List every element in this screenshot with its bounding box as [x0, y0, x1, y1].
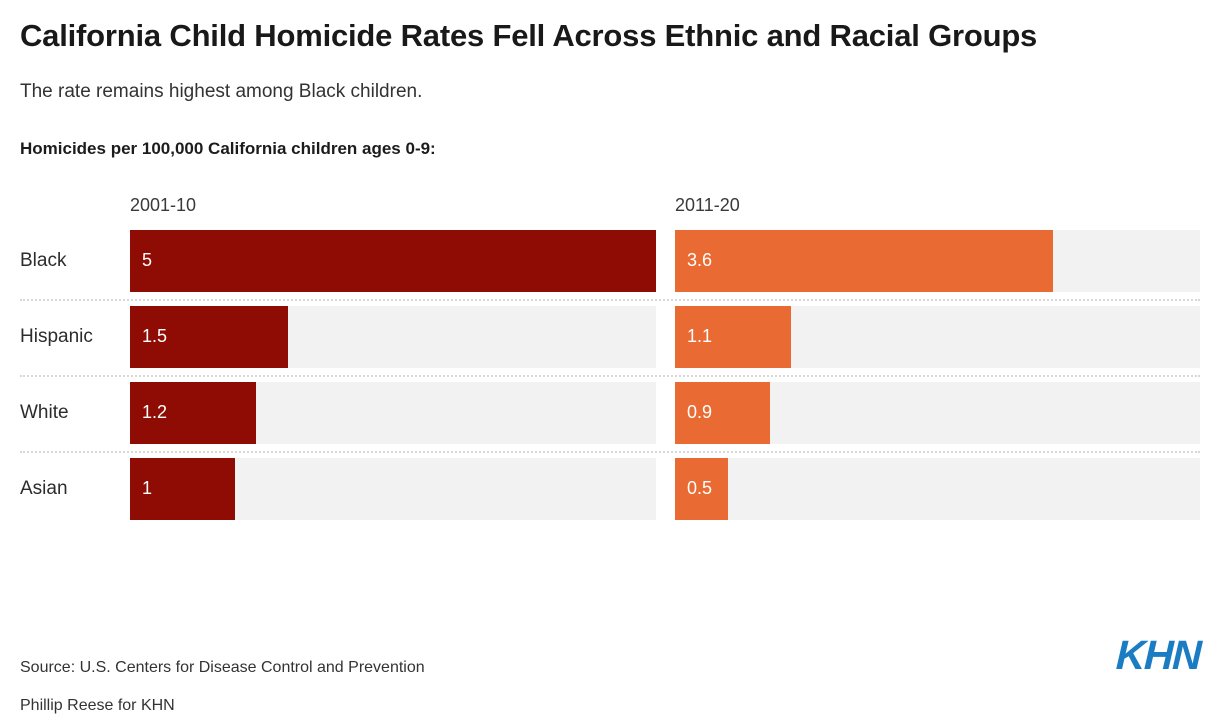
column-headers: 2001-10 2011-20: [20, 195, 1200, 223]
bar-track: [675, 458, 1200, 520]
bar-chart: 2001-10 2011-20 Black 5 3.6: [20, 195, 1200, 527]
column-header-period-2: 2011-20: [675, 195, 740, 216]
bar-cell-hispanic-period-2: 1.1: [675, 306, 1200, 368]
bar-asian-period-1[interactable]: 1: [130, 458, 235, 520]
row-label-black: Black: [20, 250, 130, 272]
chart-footer: Source: U.S. Centers for Disease Control…: [20, 660, 1200, 714]
bar-cell-white-period-2: 0.9: [675, 382, 1200, 444]
bar-value-asian-period-2: 0.5: [675, 478, 712, 499]
bar-value-hispanic-period-1: 1.5: [130, 326, 167, 347]
bar-cell-black-period-2: 3.6: [675, 230, 1200, 292]
row-divider: [20, 375, 1200, 377]
bar-white-period-1[interactable]: 1.2: [130, 382, 256, 444]
chart-rows: Black 5 3.6 Hispanic: [20, 223, 1200, 527]
table-row: White 1.2 0.9: [20, 375, 1200, 451]
credit-text: Phillip Reese for KHN: [20, 698, 1200, 714]
row-label-hispanic: Hispanic: [20, 326, 130, 348]
chart-page: California Child Homicide Rates Fell Acr…: [0, 0, 1220, 726]
bar-black-period-1[interactable]: 5: [130, 230, 656, 292]
row-label-asian: Asian: [20, 478, 130, 500]
bar-value-asian-period-1: 1: [130, 478, 152, 499]
bar-value-hispanic-period-2: 1.1: [675, 326, 712, 347]
bar-value-white-period-2: 0.9: [675, 402, 712, 423]
row-divider: [20, 299, 1200, 301]
table-row: Asian 1 0.5: [20, 451, 1200, 527]
table-row: Hispanic 1.5 1.1: [20, 299, 1200, 375]
bar-cell-asian-period-2: 0.5: [675, 458, 1200, 520]
bar-hispanic-period-2[interactable]: 1.1: [675, 306, 791, 368]
column-header-period-1: 2001-10: [130, 195, 196, 216]
bar-cell-white-period-1: 1.2: [130, 382, 656, 444]
bar-cell-hispanic-period-1: 1.5: [130, 306, 656, 368]
bar-cell-asian-period-1: 1: [130, 458, 656, 520]
bar-value-black-period-1: 5: [130, 250, 152, 271]
bar-hispanic-period-1[interactable]: 1.5: [130, 306, 288, 368]
chart-subtitle: The rate remains highest among Black chi…: [20, 56, 1200, 103]
bar-white-period-2[interactable]: 0.9: [675, 382, 770, 444]
page-title: California Child Homicide Rates Fell Acr…: [20, 0, 1130, 56]
bar-asian-period-2[interactable]: 0.5: [675, 458, 728, 520]
bar-value-white-period-1: 1.2: [130, 402, 167, 423]
row-divider: [20, 451, 1200, 453]
chart-units-label: Homicides per 100,000 California childre…: [20, 103, 1200, 159]
bar-value-black-period-2: 3.6: [675, 250, 712, 271]
table-row: Black 5 3.6: [20, 223, 1200, 299]
bar-black-period-2[interactable]: 3.6: [675, 230, 1053, 292]
row-label-white: White: [20, 402, 130, 424]
source-text: Source: U.S. Centers for Disease Control…: [20, 660, 1200, 698]
khn-logo[interactable]: KHN: [1115, 635, 1201, 676]
bar-cell-black-period-1: 5: [130, 230, 656, 292]
